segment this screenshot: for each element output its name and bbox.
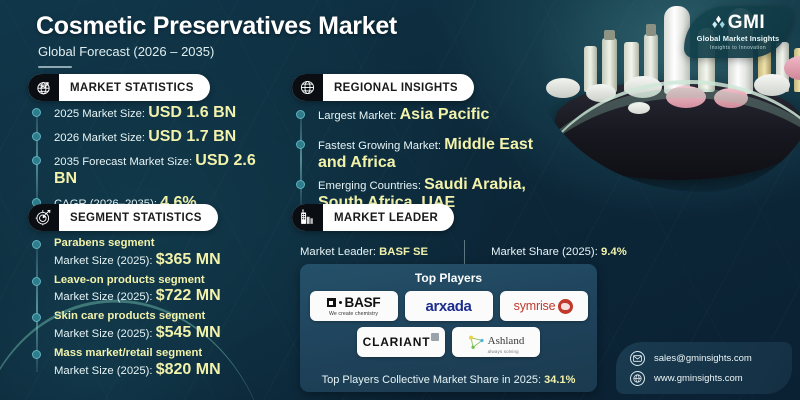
timeline-dot <box>32 277 41 286</box>
clariant-wordmark: CLARIANT <box>363 335 440 349</box>
stat-value: USD 1.6 BN <box>148 104 236 121</box>
region-label: Emerging Countries: <box>318 180 424 192</box>
timeline-dot <box>32 156 41 165</box>
gmi-logo-name: GMI <box>728 13 765 32</box>
stat-value: USD 1.7 BN <box>148 128 236 145</box>
section-title-segment-statistics: SEGMENT STATISTICS <box>59 212 218 224</box>
top-players-panel: Top Players BASF We create chemistry arx… <box>300 264 597 392</box>
player-name: CLARIANT <box>363 335 431 349</box>
section-header-market-statistics: MARKET STATISTICS <box>28 74 210 101</box>
top-players-footer: Top Players Collective Market Share in 2… <box>322 374 576 386</box>
stat-label: 2035 Forecast Market Size: <box>54 156 195 168</box>
symrise-globe-icon <box>558 299 573 314</box>
section-title-market-statistics: MARKET STATISTICS <box>59 82 210 94</box>
market-share-label: Market Share (2025): <box>491 246 601 258</box>
player-tagline: always solving <box>488 349 525 354</box>
segment-label: Market Size (2025): <box>54 365 156 377</box>
collective-share-value: 34.1% <box>544 374 575 386</box>
contact-email: sales@gminsights.com <box>654 353 752 364</box>
top-players-logo-row-2: CLARIANT Ashland <box>357 327 540 357</box>
player-name: BASF <box>345 295 381 310</box>
player-logo-clariant[interactable]: CLARIANT <box>357 327 445 357</box>
market-share-value: 9.4% <box>601 246 627 258</box>
segment-statistics-list: Parabens segment Market Size (2025): $36… <box>32 236 287 379</box>
list-item: Leave-on products segment Market Size (2… <box>32 273 287 306</box>
timeline-dot <box>296 140 305 149</box>
player-logo-symrise[interactable]: symrise <box>500 291 588 321</box>
page-title: Cosmetic Preservatives Market <box>36 12 397 41</box>
market-statistics-list: 2025 Market Size: USD 1.6 BN 2026 Market… <box>32 104 282 218</box>
timeline-dot <box>296 110 305 119</box>
section-title-market-leader: MARKET LEADER <box>323 212 454 224</box>
section-title-regional-insights: REGIONAL INSIGHTS <box>323 82 474 94</box>
globe-icon <box>292 74 323 101</box>
segment-name: Parabens segment <box>54 236 287 251</box>
gmi-logo-sub: Insights to Innovation <box>710 45 766 51</box>
segment-name: Leave-on products segment <box>54 273 287 288</box>
stat-label: 2026 Market Size: <box>54 132 148 144</box>
basf-wordmark: BASF <box>327 295 381 310</box>
player-logo-ashland[interactable]: Ashland always solving <box>452 327 540 357</box>
section-header-segment-statistics: SEGMENT STATISTICS <box>28 204 218 231</box>
timeline-dot <box>32 313 41 322</box>
basf-dot-icon <box>339 301 342 304</box>
timeline-dot <box>32 350 41 359</box>
stat-label: 2025 Market Size: <box>54 108 148 120</box>
timeline-dot <box>32 108 41 117</box>
symrise-wordmark: symrise <box>514 299 574 314</box>
gmi-logo-tagline: Global Market Insights <box>697 34 780 43</box>
globe-chart-icon <box>28 74 59 101</box>
player-logo-basf[interactable]: BASF We create chemistry <box>310 291 398 321</box>
player-name: symrise <box>514 299 556 313</box>
clariant-square-icon <box>431 333 439 341</box>
segment-value: $365 MN <box>156 251 221 268</box>
globe-icon <box>630 371 645 386</box>
segment-value: $820 MN <box>156 361 221 378</box>
section-header-regional-insights: REGIONAL INSIGHTS <box>292 74 474 101</box>
region-value: Asia Pacific <box>400 106 490 123</box>
top-players-title: Top Players <box>415 271 482 285</box>
top-players-logo-row-1: BASF We create chemistry arxada symrise <box>310 291 588 321</box>
player-logo-arxada[interactable]: arxada <box>405 291 493 321</box>
regional-insights-list: Largest Market: Asia Pacific Fastest Gro… <box>296 106 564 212</box>
list-item: Parabens segment Market Size (2025): $36… <box>32 236 287 269</box>
list-item: 2035 Forecast Market Size: USD 2.6 BN <box>32 152 282 188</box>
region-label: Largest Market: <box>318 110 400 122</box>
player-name: Ashland <box>488 335 525 347</box>
region-label: Fastest Growing Market: <box>318 140 444 152</box>
section-header-market-leader: MARKET LEADER <box>292 204 454 231</box>
contact-website-row[interactable]: www.gminsights.com <box>630 371 792 386</box>
ashland-wordmark: Ashland always solving <box>468 331 525 354</box>
market-leader-label: Market Leader: <box>300 246 379 258</box>
list-item: Fastest Growing Market: Middle East and … <box>296 136 564 172</box>
segment-value: $722 MN <box>156 287 221 304</box>
factory-building-icon <box>292 204 323 231</box>
list-item: 2025 Market Size: USD 1.6 BN <box>32 104 282 122</box>
player-tagline: We create chemistry <box>329 311 378 317</box>
list-item: Skin care products segment Market Size (… <box>32 309 287 342</box>
contact-panel: sales@gminsights.com www.gminsights.com <box>616 342 792 394</box>
list-item: 2026 Market Size: USD 1.7 BN <box>32 128 282 146</box>
infographic-root: Cosmetic Preservatives Market Global For… <box>0 0 800 400</box>
segment-value: $545 MN <box>156 324 221 341</box>
segment-label: Market Size (2025): <box>54 255 156 267</box>
segment-label: Market Size (2025): <box>54 328 156 340</box>
market-leader-row: Market Leader: BASF SE Market Share (202… <box>300 240 725 264</box>
list-item: Largest Market: Asia Pacific <box>296 106 564 124</box>
basf-square-icon <box>327 298 336 307</box>
envelope-icon <box>630 351 645 366</box>
timeline-dot <box>32 132 41 141</box>
vertical-divider <box>464 240 465 264</box>
market-leader-value: BASF SE <box>379 246 428 258</box>
gmi-diamond-icon <box>711 15 726 30</box>
segment-label: Market Size (2025): <box>54 291 156 303</box>
contact-email-row[interactable]: sales@gminsights.com <box>630 351 792 366</box>
ashland-molecule-icon <box>468 335 485 350</box>
ashland-text-block: Ashland always solving <box>488 331 525 354</box>
page-subtitle: Global Forecast (2026 – 2035) <box>38 44 214 59</box>
timeline-dot <box>32 240 41 249</box>
market-share-field: Market Share (2025): 9.4% <box>491 245 627 260</box>
contact-website: www.gminsights.com <box>654 373 743 384</box>
player-name: arxada <box>426 298 472 315</box>
gmi-logo-mark: GMI <box>711 13 765 32</box>
timeline-dot <box>296 180 305 189</box>
list-item: Mass market/retail segment Market Size (… <box>32 346 287 379</box>
segment-name: Mass market/retail segment <box>54 346 287 361</box>
target-pie-icon <box>28 204 59 231</box>
market-leader-field: Market Leader: BASF SE <box>300 245 428 260</box>
title-underline <box>38 66 72 68</box>
segment-name: Skin care products segment <box>54 309 287 324</box>
collective-share-label: Top Players Collective Market Share in 2… <box>322 374 545 386</box>
